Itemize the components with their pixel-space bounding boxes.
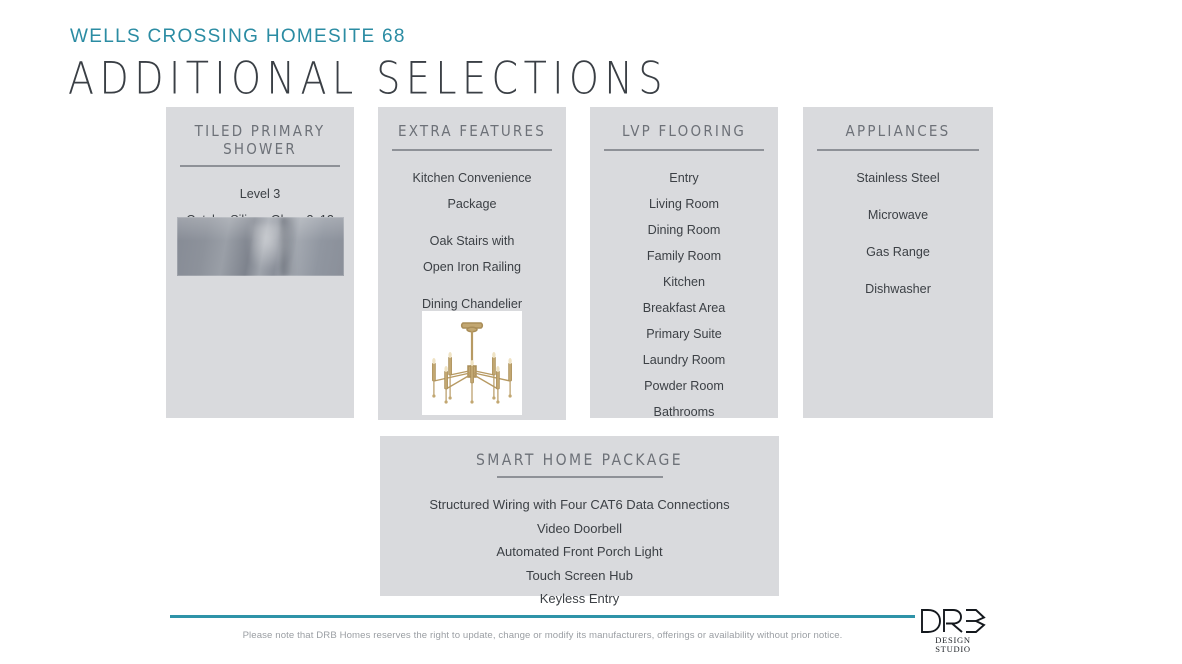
card-divider bbox=[180, 165, 340, 167]
card-item-list: Stainless Steel Microwave Gas Range Dish… bbox=[803, 165, 993, 302]
page-eyebrow: WELLS CROSSING HOMESITE 68 bbox=[70, 26, 406, 48]
list-item: Primary Suite bbox=[590, 321, 778, 347]
card-tiled-primary-shower: TILED PRIMARY SHOWER Level 3 Catch - Sil… bbox=[166, 107, 354, 418]
list-item: Breakfast Area bbox=[590, 295, 778, 321]
list-item: Automated Front Porch Light bbox=[380, 540, 779, 564]
list-item: Gas Range bbox=[803, 239, 993, 265]
card-item-list: Entry Living Room Dining Room Family Roo… bbox=[590, 165, 778, 425]
footer-accent-rule bbox=[170, 615, 915, 618]
card-item-list: Kitchen Convenience Package Oak Stairs w… bbox=[378, 165, 566, 317]
list-item: Kitchen bbox=[590, 269, 778, 295]
list-item: Structured Wiring with Four CAT6 Data Co… bbox=[380, 493, 779, 517]
card-divider bbox=[817, 149, 979, 151]
card-lvp-flooring: LVP FLOORING Entry Living Room Dining Ro… bbox=[590, 107, 778, 418]
gray-glossy-tile-swatch bbox=[177, 217, 344, 276]
tile-edge bbox=[177, 217, 344, 276]
brass-chandelier-photo bbox=[422, 311, 522, 415]
page-title: ADDITIONAL SELECTIONS bbox=[68, 52, 668, 104]
list-item: Microwave bbox=[803, 202, 993, 228]
list-item: Package bbox=[378, 191, 566, 217]
list-item: Stainless Steel bbox=[803, 165, 993, 191]
list-item: Keyless Entry bbox=[380, 587, 779, 611]
card-title: SMART HOME PACKAGE bbox=[380, 436, 779, 470]
list-item: Powder Room bbox=[590, 373, 778, 399]
card-appliances: APPLIANCES Stainless Steel Microwave Gas… bbox=[803, 107, 993, 418]
list-item: Laundry Room bbox=[590, 347, 778, 373]
logo-subtitle: DESIGN STUDIO bbox=[917, 636, 990, 654]
list-item: Kitchen Convenience bbox=[378, 165, 566, 191]
card-extra-features: EXTRA FEATURES Kitchen Convenience Packa… bbox=[378, 107, 566, 420]
list-item: Dining Room bbox=[590, 217, 778, 243]
list-item: Open Iron Railing bbox=[378, 254, 566, 280]
list-item: Level 3 bbox=[166, 181, 354, 207]
slide-canvas: WELLS CROSSING HOMESITE 68 ADDITIONAL SE… bbox=[0, 0, 1182, 664]
card-title: APPLIANCES bbox=[803, 107, 993, 141]
list-item: Dishwasher bbox=[803, 276, 993, 302]
card-smart-home-package: SMART HOME PACKAGE Structured Wiring wit… bbox=[380, 436, 779, 596]
card-title: EXTRA FEATURES bbox=[378, 107, 566, 141]
list-item: Oak Stairs with bbox=[378, 228, 566, 254]
drb-design-studio-logo: DESIGN STUDIO bbox=[918, 607, 988, 651]
card-divider bbox=[604, 149, 764, 151]
list-item: Touch Screen Hub bbox=[380, 564, 779, 588]
list-item: Entry bbox=[590, 165, 778, 191]
footer-disclaimer: Please note that DRB Homes reserves the … bbox=[170, 630, 915, 641]
card-item-list: Structured Wiring with Four CAT6 Data Co… bbox=[380, 493, 779, 611]
card-title: TILED PRIMARY SHOWER bbox=[166, 107, 354, 159]
list-item: Family Room bbox=[590, 243, 778, 269]
card-title: LVP FLOORING bbox=[590, 107, 778, 141]
card-divider bbox=[497, 476, 663, 478]
drb-wordmark-icon bbox=[918, 607, 988, 635]
list-item: Living Room bbox=[590, 191, 778, 217]
list-item: Video Doorbell bbox=[380, 517, 779, 541]
list-item: Bathrooms bbox=[590, 399, 778, 425]
card-divider bbox=[392, 149, 552, 151]
